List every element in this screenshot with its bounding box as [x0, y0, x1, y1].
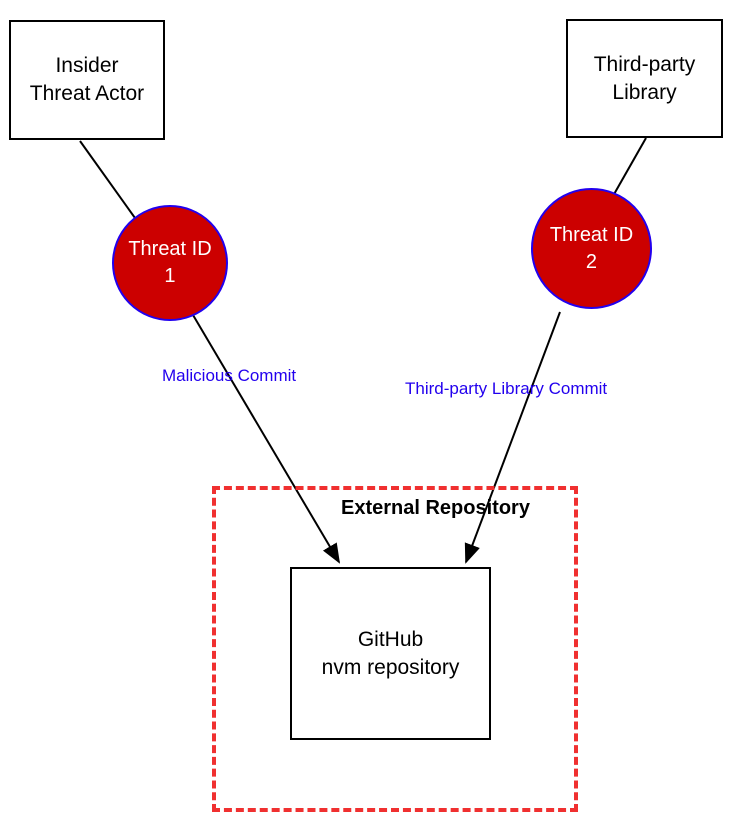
- node-insider-threat-actor[interactable]: Insider Threat Actor: [9, 20, 165, 140]
- zone-external-repository-title: External Repository: [341, 497, 530, 520]
- node-insider-threat-actor-label: Insider Threat Actor: [30, 52, 144, 107]
- node-threat-id-1-line2: 1: [128, 263, 211, 290]
- node-third-party-library-line2: Library: [594, 79, 696, 107]
- node-threat-id-1[interactable]: Threat ID 1: [112, 205, 228, 321]
- node-threat-id-1-label: Threat ID 1: [128, 236, 211, 290]
- node-threat-id-2-line2: 2: [550, 249, 633, 276]
- edge-label-third-party-library-commit: Third-party Library Commit: [405, 379, 607, 399]
- node-github-nvm-repository-line1: GitHub: [322, 626, 460, 654]
- node-insider-threat-actor-line2: Threat Actor: [30, 80, 144, 108]
- node-github-nvm-repository[interactable]: GitHub nvm repository: [290, 567, 491, 740]
- node-third-party-library[interactable]: Third-party Library: [566, 19, 723, 138]
- node-threat-id-1-line1: Threat ID: [128, 236, 211, 263]
- node-insider-threat-actor-line1: Insider: [30, 52, 144, 80]
- node-third-party-library-line1: Third-party: [594, 51, 696, 79]
- node-threat-id-2[interactable]: Threat ID 2: [531, 188, 652, 309]
- node-github-nvm-repository-label: GitHub nvm repository: [322, 626, 460, 681]
- edge-label-malicious-commit: Malicious Commit: [162, 366, 296, 386]
- edge-insider-to-threat1: [80, 141, 135, 218]
- edge-library-to-threat2: [613, 138, 646, 196]
- node-github-nvm-repository-line2: nvm repository: [322, 654, 460, 682]
- diagram-canvas: Insider Threat Actor Third-party Library…: [0, 0, 733, 830]
- node-threat-id-2-line1: Threat ID: [550, 222, 633, 249]
- node-threat-id-2-label: Threat ID 2: [550, 222, 633, 276]
- node-third-party-library-label: Third-party Library: [594, 51, 696, 106]
